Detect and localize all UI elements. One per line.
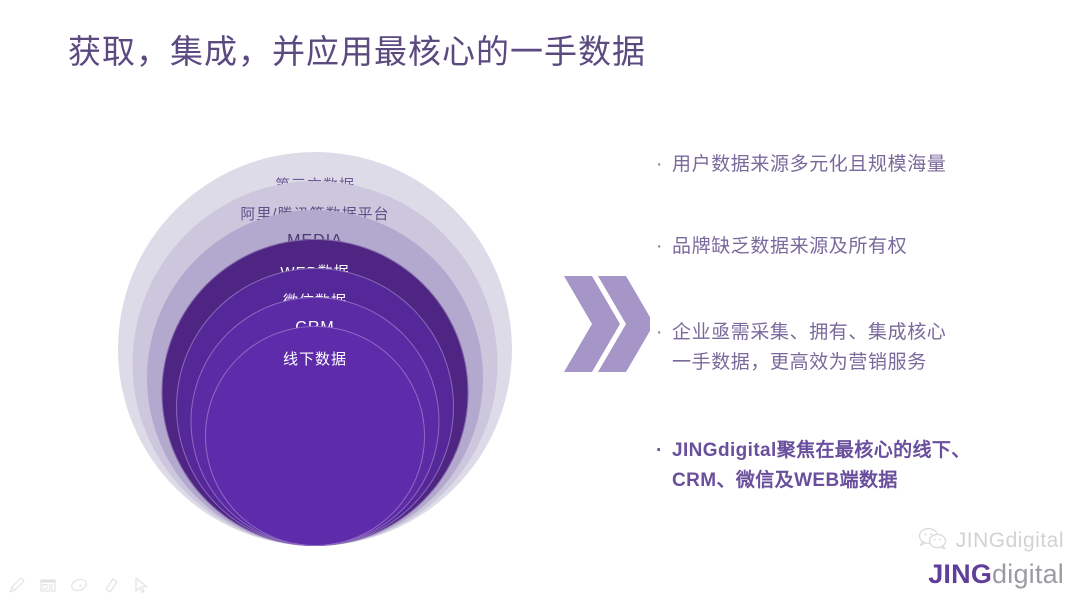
highlighter-icon[interactable] [68, 574, 90, 596]
bullet-item-1: ·用户数据来源多元化且规模海量 [656, 150, 1066, 180]
double-chevron-right-icon [558, 276, 650, 372]
bullet-item-4: ·JINGdigital聚焦在最核心的线下、CRM、微信及WEB端数据 [656, 436, 1066, 496]
bullet-3-line-2: 一手数据，更高效为营销服务 [672, 348, 1066, 378]
bullet-item-2: ·品牌缺乏数据来源及所有权 [656, 232, 1066, 262]
logo-secondary-text: digital [992, 559, 1064, 589]
key-points-list: ·用户数据来源多元化且规模海量·品牌缺乏数据来源及所有权·企业亟需采集、拥有、集… [656, 150, 1066, 496]
annotation-toolbar[interactable] [6, 574, 152, 596]
bullet-marker-icon: · [656, 436, 663, 466]
wechat-handle-text: JINGdigital [956, 529, 1064, 553]
bullet-4-line-1: JINGdigital聚焦在最核心的线下、 [672, 436, 1066, 466]
page-title: 获取，集成，并应用最核心的一手数据 [68, 30, 646, 74]
image-icon[interactable] [37, 574, 59, 596]
brand-logo-block: JINGdigital JINGdigital [918, 526, 1064, 590]
bullet-marker-icon: · [656, 150, 663, 180]
wechat-icon [918, 527, 948, 556]
pen-icon[interactable] [6, 574, 28, 596]
wechat-handle-row: JINGdigital [918, 526, 1064, 556]
bullet-marker-icon: · [656, 232, 663, 262]
bullet-item-3: ·企业亟需采集、拥有、集成核心一手数据，更高效为营销服务 [656, 318, 1066, 378]
nested-circles-diagram: 第三方数据阿里/腾讯等数据平台MEDIAWEB数据微信数据CRM线下数据 [100, 118, 530, 558]
bullet-3-line-1: 企业亟需采集、拥有、集成核心 [672, 318, 1066, 348]
bullet-1-line-1: 用户数据来源多元化且规模海量 [672, 150, 1066, 180]
bullet-4-line-2: CRM、微信及WEB端数据 [672, 466, 1066, 496]
bullet-marker-icon: · [656, 318, 663, 348]
jingdigital-logo: JINGdigital [918, 558, 1064, 590]
chevron-svg [558, 276, 650, 372]
bullet-2-line-1: 品牌缺乏数据来源及所有权 [672, 232, 1066, 262]
cursor-icon[interactable] [130, 574, 152, 596]
venn-ring-7 [205, 326, 425, 546]
eraser-icon[interactable] [99, 574, 121, 596]
logo-primary-text: JING [928, 559, 992, 589]
